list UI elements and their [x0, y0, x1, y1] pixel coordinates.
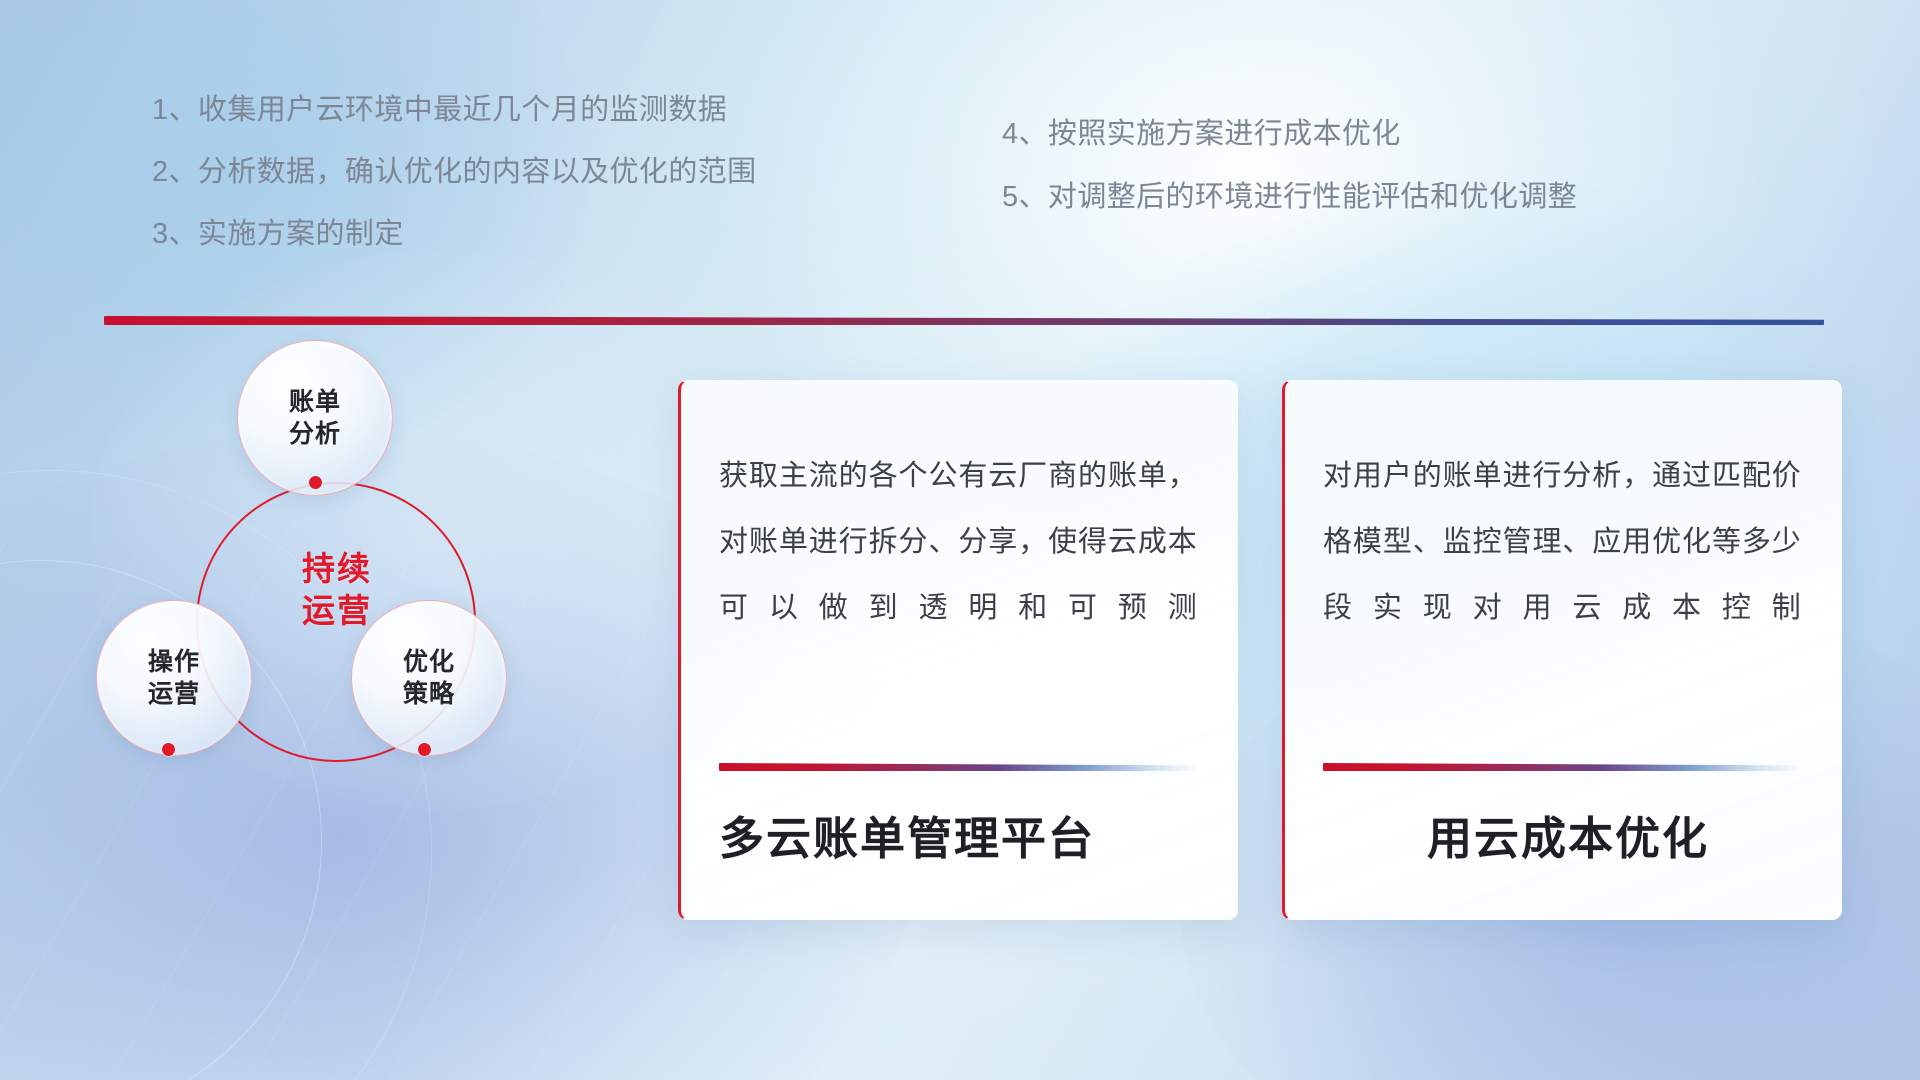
- diagram-node-operations[interactable]: 操作 运营: [96, 600, 252, 756]
- diagram-node-label: 账单 分析: [289, 386, 341, 450]
- diagram-node-label-line2: 运营: [148, 680, 200, 708]
- diagram-center-label: 持续 运营: [242, 548, 432, 631]
- diagram-junction-dot-top: [309, 476, 322, 489]
- steps-left-column: 1、收集用户云环境中最近几个月的监测数据 2、分析数据，确认优化的内容以及优化的…: [152, 96, 757, 282]
- steps-right-column: 4、按照实施方案进行成本优化 5、对调整后的环境进行性能评估和优化调整: [1002, 120, 1577, 246]
- card-body-text: 获取主流的各个公有云厂商的账单，对账单进行拆分、分享，使得云成本可以做到透明和可…: [719, 443, 1197, 641]
- step-item-5: 5、对调整后的环境进行性能评估和优化调整: [1002, 183, 1577, 212]
- venn-diagram: 账单 分析 操作 运营 优化 策略 持续 运营: [96, 352, 566, 912]
- step-item-1: 1、收集用户云环境中最近几个月的监测数据: [152, 96, 757, 125]
- diagram-node-label: 优化 策略: [403, 646, 455, 710]
- diagram-node-label-line2: 分析: [289, 420, 341, 448]
- diagram-node-label: 操作 运营: [148, 646, 200, 710]
- card-title: 多云账单管理平台: [719, 802, 1209, 867]
- card-title: 用云成本优化: [1323, 802, 1813, 867]
- diagram-node-label-line1: 优化: [403, 648, 455, 676]
- step-item-2: 2、分析数据，确认优化的内容以及优化的范围: [152, 158, 757, 187]
- step-item-3: 3、实施方案的制定: [152, 220, 757, 249]
- card-body-text: 对用户的账单进行分析，通过匹配价格模型、监控管理、应用优化等多少段实现对用云成本…: [1323, 443, 1801, 641]
- card-multicloud-billing[interactable]: 获取主流的各个公有云厂商的账单，对账单进行拆分、分享，使得云成本可以做到透明和可…: [678, 380, 1238, 920]
- diagram-junction-dot-bottom-right: [418, 743, 431, 756]
- diagram-node-label-line1: 账单: [289, 388, 341, 416]
- diagram-node-label-line2: 策略: [403, 680, 455, 708]
- diagram-node-label-line1: 操作: [148, 648, 200, 676]
- diagram-center-label-line2: 运营: [302, 592, 372, 629]
- diagram-junction-dot-bottom-left: [162, 743, 175, 756]
- step-item-4: 4、按照实施方案进行成本优化: [1002, 120, 1577, 149]
- diagram-node-bill-analysis[interactable]: 账单 分析: [237, 340, 393, 496]
- card-cloud-cost-optimization[interactable]: 对用户的账单进行分析，通过匹配价格模型、监控管理、应用优化等多少段实现对用云成本…: [1282, 380, 1842, 920]
- diagram-center-label-line1: 持续: [302, 550, 372, 587]
